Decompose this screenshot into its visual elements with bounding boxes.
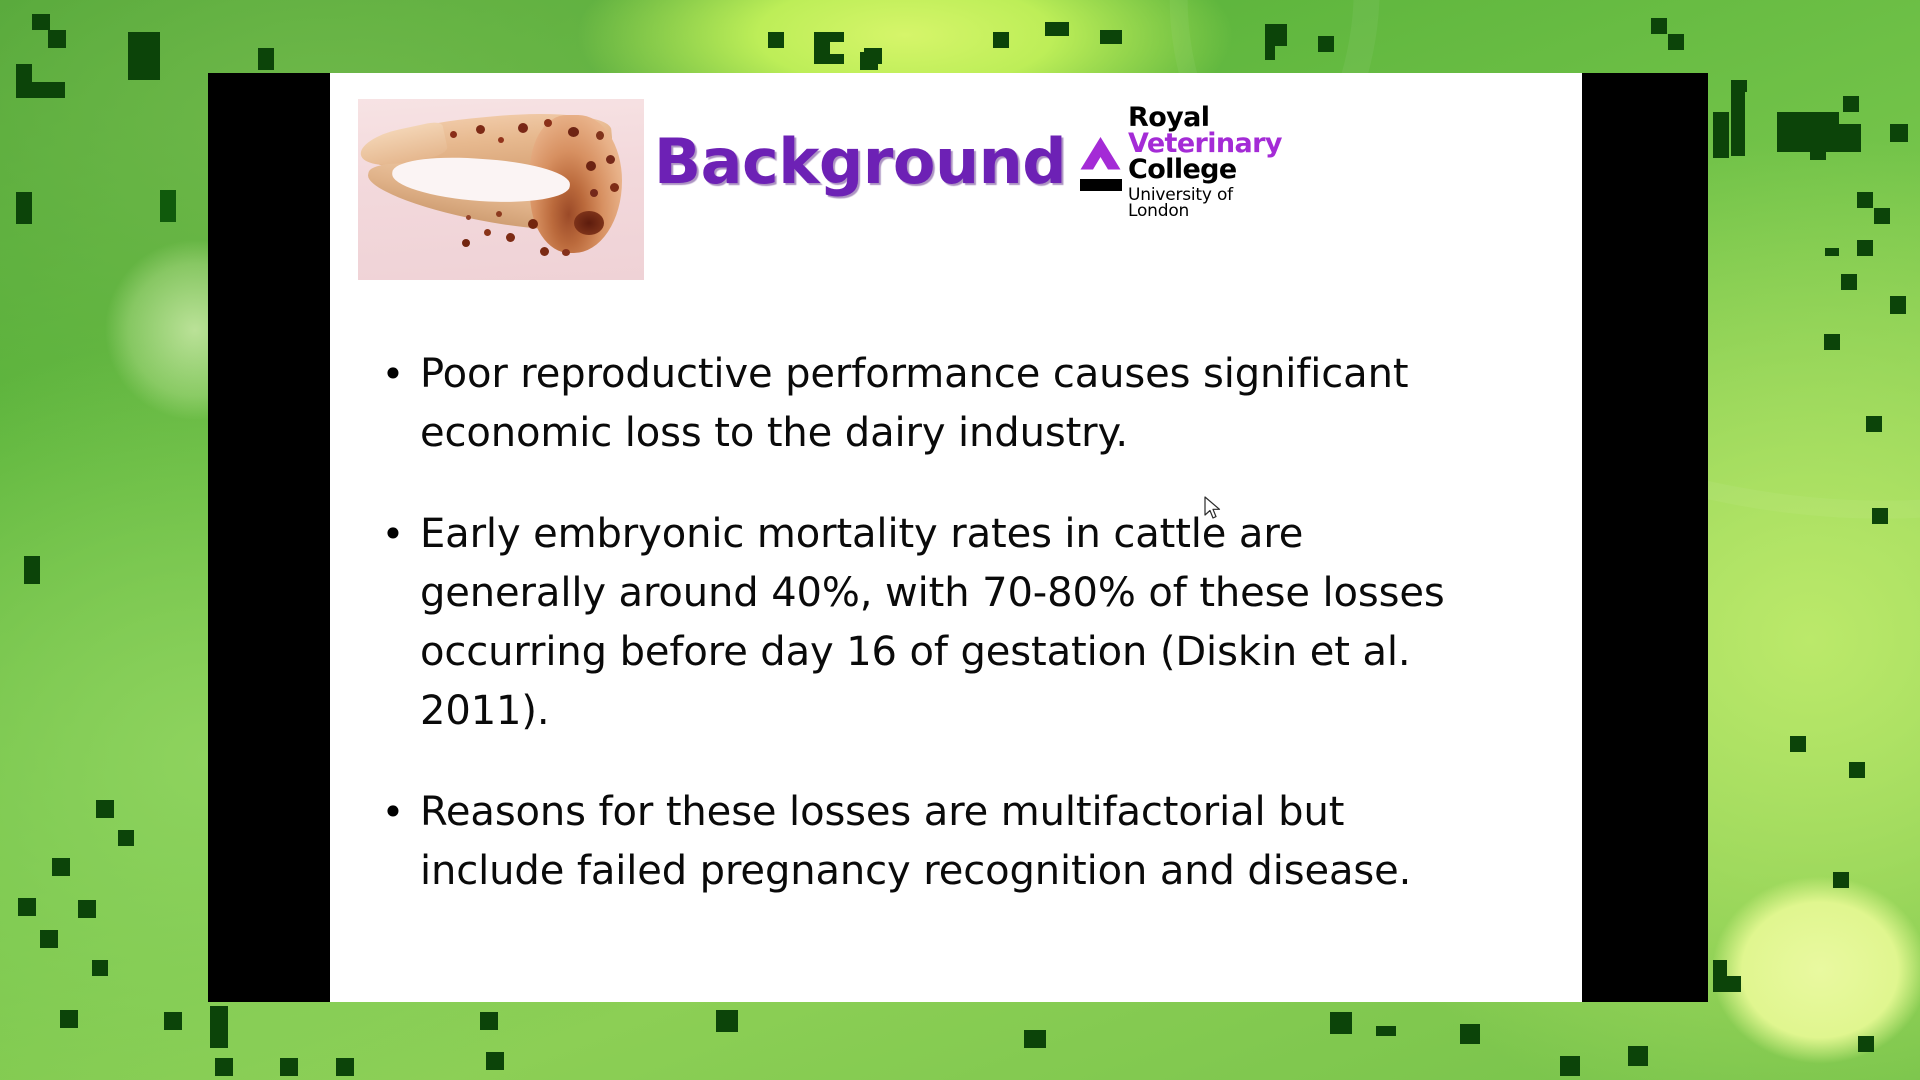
specimen-lesion <box>496 211 502 217</box>
pixel-artifact <box>1318 36 1334 52</box>
bullet-item: • Poor reproductive performance causes s… <box>370 345 1490 463</box>
pixel-artifact <box>92 960 108 976</box>
royal-veterinary-college-logo: Royal Veterinary College University of L… <box>1080 93 1295 243</box>
pixel-artifact <box>16 82 65 98</box>
pixel-artifact <box>215 1058 233 1076</box>
pixel-artifact <box>1713 976 1741 992</box>
pixel-artifact <box>1024 1030 1046 1048</box>
pixel-artifact <box>210 1006 228 1048</box>
pixel-artifact <box>1824 334 1840 350</box>
pixel-artifact <box>993 32 1009 48</box>
pixel-artifact <box>860 52 878 70</box>
pixel-artifact <box>814 54 844 64</box>
presentation-slide[interactable]: Background Royal Veterinary College Univ… <box>330 73 1582 1002</box>
pixel-artifact <box>1858 1036 1874 1052</box>
specimen-lesion <box>540 247 549 256</box>
pixel-artifact <box>60 1010 78 1028</box>
pixel-artifact <box>40 930 58 948</box>
bullet-marker: • <box>370 783 420 842</box>
rvc-monogram-icon <box>1080 99 1122 237</box>
specimen-lesion <box>498 137 504 143</box>
pixel-artifact <box>1560 1056 1580 1076</box>
pixel-artifact <box>144 32 160 80</box>
pixel-artifact <box>1890 296 1906 314</box>
specimen-lesion <box>506 233 515 242</box>
rvc-subtitle: University of London <box>1128 187 1296 220</box>
pixel-artifact <box>32 14 50 30</box>
pixel-artifact <box>1713 112 1729 158</box>
bullet-marker: • <box>370 345 420 404</box>
screen: Background Royal Veterinary College Univ… <box>0 0 1920 1080</box>
pixel-artifact <box>1651 18 1667 34</box>
slide-title: Background <box>580 125 1140 198</box>
pixel-artifact <box>48 30 66 48</box>
pixel-artifact <box>52 858 70 876</box>
pixel-artifact <box>18 898 36 916</box>
pixel-artifact <box>336 1058 354 1076</box>
pixel-artifact <box>16 192 32 224</box>
slide-bullet-list: • Poor reproductive performance causes s… <box>370 345 1490 901</box>
pixel-artifact <box>280 1058 298 1076</box>
pixel-artifact <box>1045 22 1069 36</box>
bullet-text: Early embryonic mortality rates in cattl… <box>420 505 1490 741</box>
pixel-artifact <box>1849 762 1865 778</box>
pixel-artifact <box>1790 736 1806 752</box>
bullet-item: • Reasons for these losses are multifact… <box>370 783 1490 901</box>
pixel-artifact <box>814 32 844 42</box>
pixel-artifact <box>96 800 114 818</box>
specimen-lesion <box>484 229 491 236</box>
specimen-lesion-large <box>574 211 604 235</box>
pixel-artifact <box>716 1010 738 1032</box>
pixel-artifact <box>1265 24 1275 60</box>
specimen-lesion <box>476 125 485 134</box>
bullet-item: • Early embryonic mortality rates in cat… <box>370 505 1490 741</box>
pixel-artifact <box>1841 274 1857 290</box>
specimen-lesion <box>518 123 528 133</box>
pixel-artifact <box>1857 240 1873 256</box>
specimen-lesion <box>450 131 457 138</box>
bullet-text: Reasons for these losses are multifactor… <box>420 783 1490 901</box>
rvc-wordmark: Royal Veterinary College University of L… <box>1128 105 1296 220</box>
pixel-artifact <box>1628 1046 1648 1066</box>
pixel-artifact <box>1668 34 1684 50</box>
specimen-lesion <box>562 249 570 256</box>
bullet-text: Poor reproductive performance causes sig… <box>420 345 1490 463</box>
specimen-lesion <box>462 239 470 247</box>
pixel-artifact <box>1731 80 1745 156</box>
pixel-artifact <box>1460 1024 1480 1044</box>
pixel-artifact <box>24 556 40 584</box>
pixel-artifact <box>1872 508 1888 524</box>
pixel-artifact <box>480 1012 498 1030</box>
pixel-artifact <box>1833 872 1849 888</box>
specimen-lesion <box>528 219 538 229</box>
rvc-line-college: College <box>1128 157 1296 183</box>
pixel-artifact <box>164 1012 182 1030</box>
pixel-artifact <box>160 190 176 222</box>
pixel-artifact <box>1866 416 1882 432</box>
pixel-artifact <box>1777 124 1861 152</box>
pixel-artifact <box>1874 208 1890 224</box>
pixel-artifact <box>78 900 96 918</box>
pixel-artifact <box>1330 1012 1352 1034</box>
specimen-lesion <box>568 127 579 137</box>
pixel-artifact <box>768 32 784 48</box>
pixel-artifact <box>486 1052 504 1070</box>
specimen-lesion <box>544 119 552 127</box>
pixel-artifact <box>118 830 134 846</box>
pixel-artifact <box>1825 248 1839 256</box>
pixel-artifact <box>258 48 274 70</box>
bullet-marker: • <box>370 505 420 564</box>
pixel-artifact <box>1890 124 1908 142</box>
pixel-artifact <box>1857 192 1873 208</box>
pixel-artifact <box>1376 1026 1396 1036</box>
specimen-lesion <box>466 215 471 220</box>
pixel-artifact <box>1843 96 1859 112</box>
pixel-artifact <box>1100 30 1122 44</box>
